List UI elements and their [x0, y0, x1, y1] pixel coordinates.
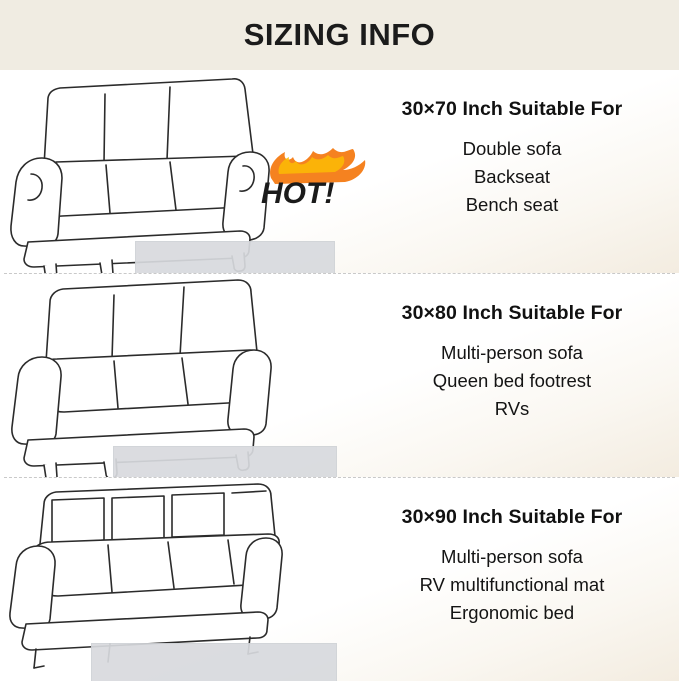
use-item: Double sofa: [345, 135, 679, 163]
sofa-illustration-90: 90″ 30″: [0, 478, 345, 681]
size-title-90: 30×90 Inch Suitable For: [345, 506, 679, 529]
size-section-90: 90″ 30″ 30×90 Inch Suitable For Multi-pe…: [0, 478, 679, 681]
hot-flame-icon: HOT!: [255, 148, 375, 210]
size-title-70: 30×70 Inch Suitable For: [345, 98, 679, 121]
header: SIZING INFO: [0, 0, 679, 70]
use-item: Ergonomic bed: [345, 599, 679, 627]
size-section-80: 80″ 30″ 30×80 Inch Suitable For Multi-pe…: [0, 274, 679, 477]
use-item: Bench seat: [345, 191, 679, 219]
page-title: SIZING INFO: [244, 17, 436, 53]
use-list-80: Multi-person sofa Queen bed footrest RVs: [345, 339, 679, 423]
use-item: Multi-person sofa: [345, 339, 679, 367]
size-title-80: 30×80 Inch Suitable For: [345, 302, 679, 325]
sizing-info-page: SIZING INFO: [0, 0, 679, 679]
use-item: Backseat: [345, 163, 679, 191]
hot-badge-label: HOT!: [261, 177, 334, 210]
use-item: RV multifunctional mat: [345, 571, 679, 599]
use-item: Queen bed footrest: [345, 367, 679, 395]
measure-box-70: 70″ 30″: [135, 241, 335, 273]
measure-box-90: 90″ 30″: [91, 643, 337, 681]
sofa-illustration-70: 70″ 30″ HOT!: [0, 70, 345, 273]
text-column-80: 30×80 Inch Suitable For Multi-person sof…: [345, 274, 679, 477]
size-section-70: 70″ 30″ HOT! 30×70 Inch Suitable For: [0, 70, 679, 273]
hot-badge: HOT!: [255, 148, 375, 210]
use-item: RVs: [345, 395, 679, 423]
sofa-illustration-80: 80″ 30″: [0, 274, 345, 477]
measure-box-80: 80″ 30″: [113, 446, 337, 477]
text-column-90: 30×90 Inch Suitable For Multi-person sof…: [345, 478, 679, 681]
use-item: Multi-person sofa: [345, 543, 679, 571]
text-column-70: 30×70 Inch Suitable For Double sofa Back…: [345, 70, 679, 273]
use-list-70: Double sofa Backseat Bench seat: [345, 135, 679, 219]
use-list-90: Multi-person sofa RV multifunctional mat…: [345, 543, 679, 627]
